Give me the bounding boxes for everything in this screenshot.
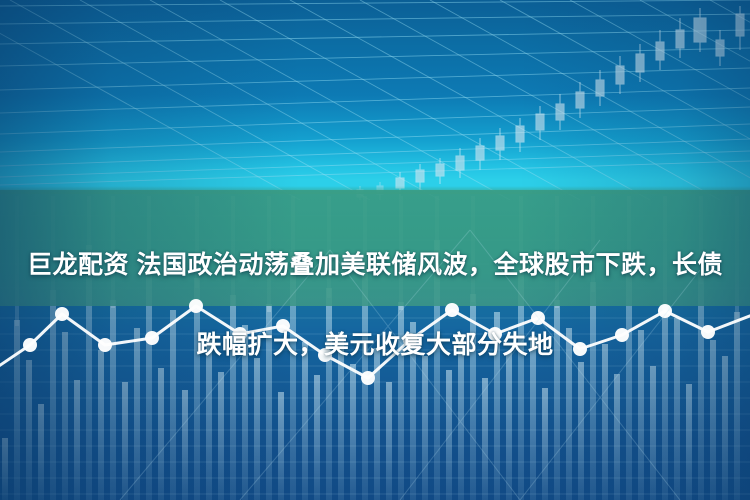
headline-line-1: 巨龙配资 法国政治动荡叠加美联储风波，全球股市下跌，长债 xyxy=(0,245,750,285)
headline-line-2: 跌幅扩大，美元收复大部分失地 xyxy=(0,325,750,365)
banner-image: 巨龙配资 法国政治动荡叠加美联储风波，全球股市下跌，长债 跌幅扩大，美元收复大部… xyxy=(0,0,750,500)
page-title: 巨龙配资 法国政治动荡叠加美联储风波，全球股市下跌，长债 跌幅扩大，美元收复大部… xyxy=(0,205,750,405)
